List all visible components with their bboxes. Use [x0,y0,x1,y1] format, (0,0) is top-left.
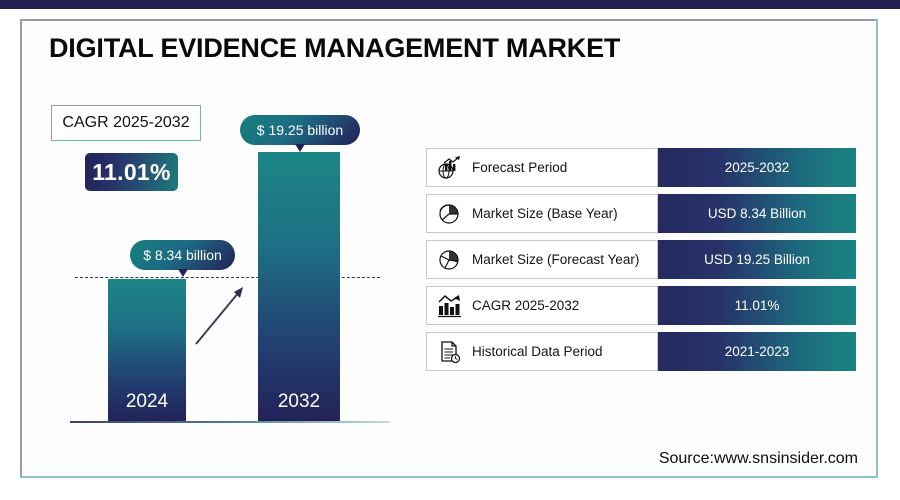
globe-growth-chart-icon [435,154,465,182]
bar-chart-trend-icon [435,292,465,320]
bar-chart: 2024 2032 $ 8.34 billion $ 19.25 billion [40,100,400,430]
table-row: CAGR 2025-2032 11.01% [426,286,856,325]
table-row: Historical Data Period 2021-2023 [426,332,856,371]
table-row-value: 11.01% [735,298,780,313]
chart-baseline-axis [70,421,390,423]
bar-2032: 2032 [258,152,340,421]
bar-2032-value-text: $ 19.25 billion [257,122,343,138]
table-row-value: USD 19.25 Billion [704,252,810,267]
table-row-label-cell: Market Size (Base Year) [426,194,658,233]
document-clock-icon [435,338,465,366]
bar-2024-year-label: 2024 [108,391,186,413]
metrics-table: Forecast Period 2025-2032 Market Size (B [426,148,856,378]
table-row: Forecast Period 2025-2032 [426,148,856,187]
table-row-value-cell: 2025-2032 [658,148,856,187]
infographic-canvas: DIGITAL EVIDENCE MANAGEMENT MARKET CAGR … [0,0,900,500]
table-row-value-cell: 11.01% [658,286,856,325]
table-row-label: Historical Data Period [472,344,603,359]
bar-2024-value-text: $ 8.34 billion [143,247,222,263]
table-row-label: CAGR 2025-2032 [472,298,579,313]
page-title: DIGITAL EVIDENCE MANAGEMENT MARKET [49,33,620,64]
table-row-value-cell: USD 19.25 Billion [658,240,856,279]
table-row-value-cell: USD 8.34 Billion [658,194,856,233]
bar-2024-value-callout: $ 8.34 billion [130,240,235,270]
table-row-label: Market Size (Forecast Year) [472,252,639,267]
pie-chart-segments-icon [435,246,465,274]
top-accent-strip [0,0,900,9]
table-row-label: Market Size (Base Year) [472,206,618,221]
table-row-label-cell: CAGR 2025-2032 [426,286,658,325]
pie-chart-icon [435,200,465,228]
table-row-value: USD 8.34 Billion [708,206,806,221]
growth-arrow-icon [190,280,250,350]
table-row-value: 2025-2032 [725,160,790,175]
bar-2032-year-label: 2032 [258,391,340,413]
table-row-value: 2021-2023 [725,344,790,359]
table-row-label-cell: Market Size (Forecast Year) [426,240,658,279]
table-row: Market Size (Base Year) USD 8.34 Billion [426,194,856,233]
bar-2032-value-callout: $ 19.25 billion [240,115,360,145]
bar-2024: 2024 [108,279,186,421]
table-row-label: Forecast Period [472,160,567,175]
source-attribution: Source:www.snsinsider.com [659,450,858,468]
table-row: Market Size (Forecast Year) USD 19.25 Bi… [426,240,856,279]
table-row-label-cell: Forecast Period [426,148,658,187]
table-row-value-cell: 2021-2023 [658,332,856,371]
table-row-label-cell: Historical Data Period [426,332,658,371]
